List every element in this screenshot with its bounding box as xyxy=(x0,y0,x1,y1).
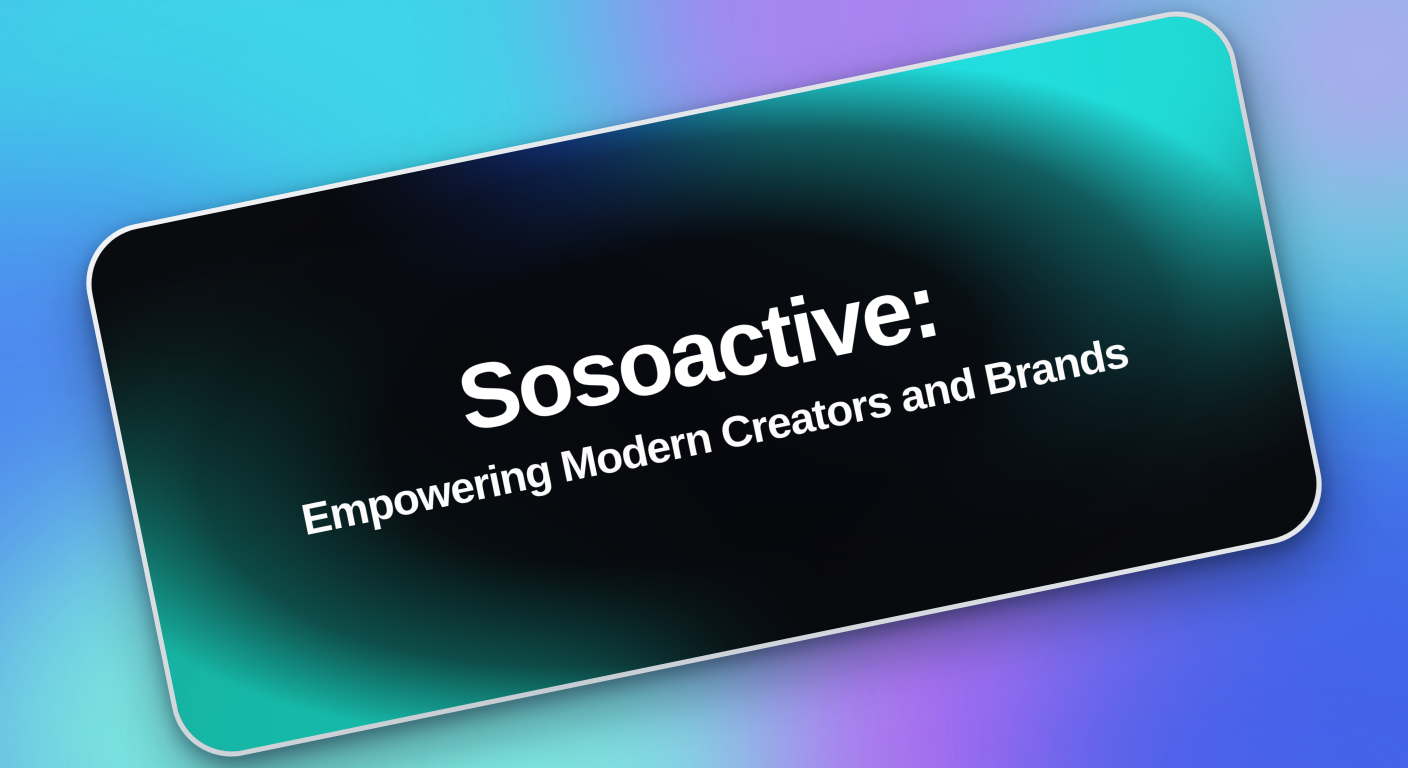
slide-canvas: Sosoactive: Empowering Modern Creators a… xyxy=(0,0,1408,768)
